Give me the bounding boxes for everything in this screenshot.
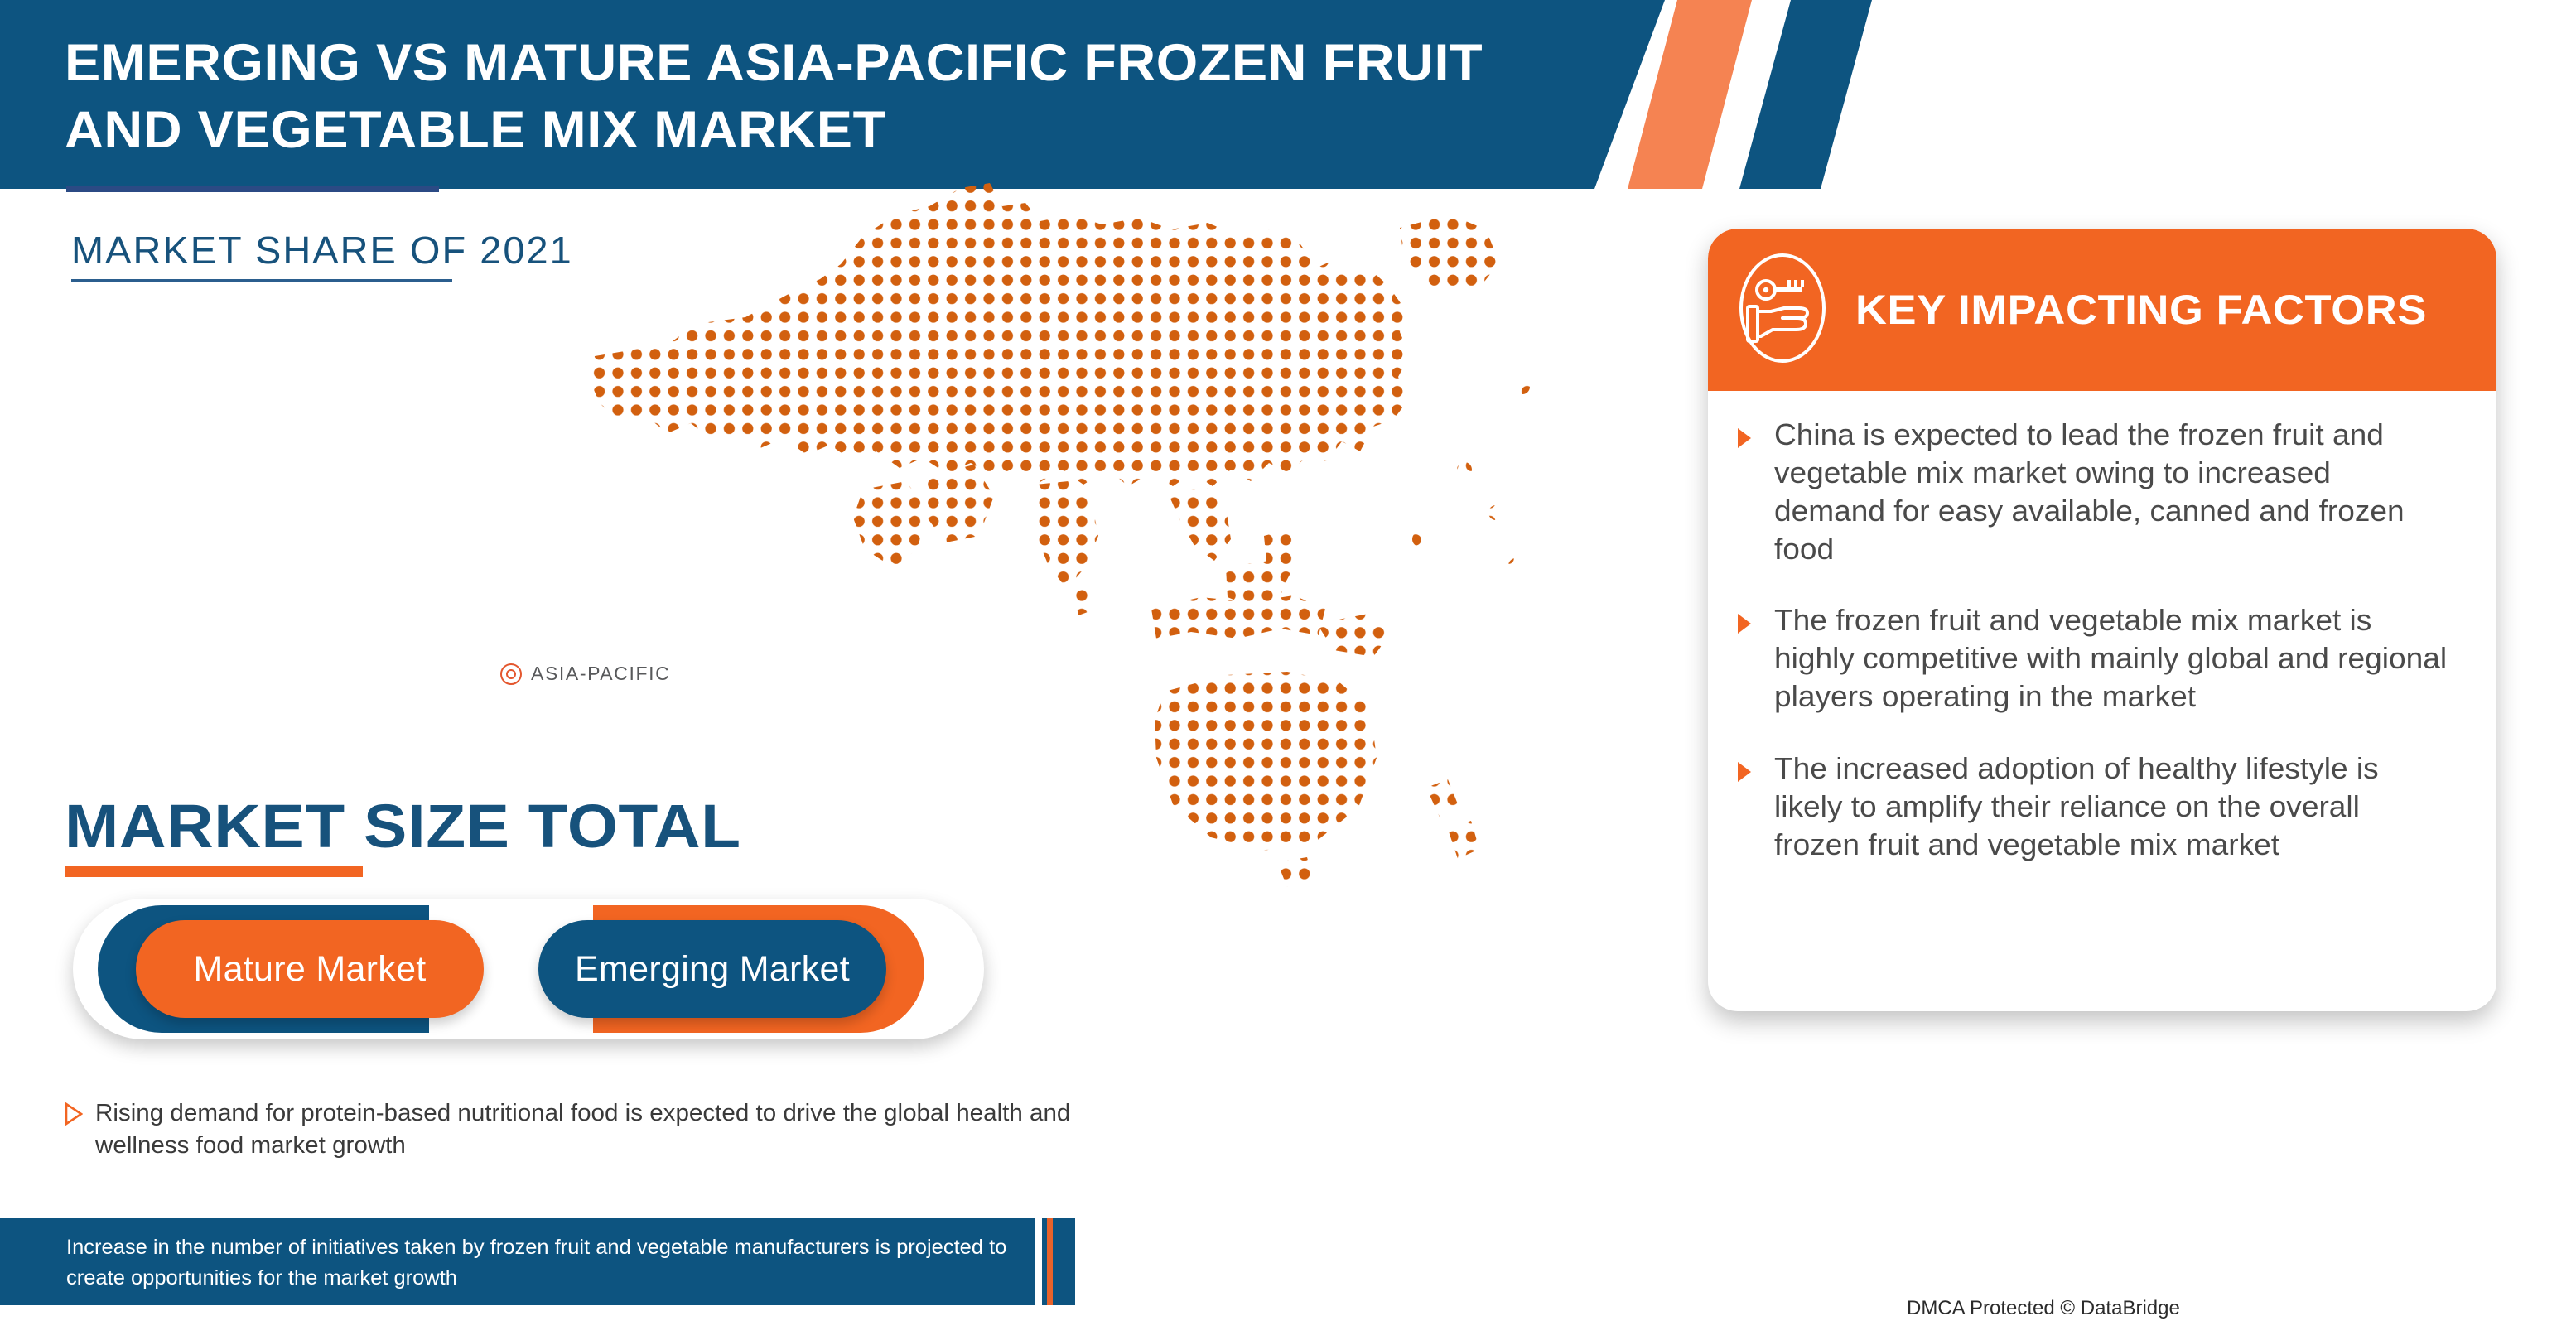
- list-item-text: The increased adoption of healthy lifest…: [1774, 750, 2448, 864]
- page-title-line-1: EMERGING VS MATURE ASIA-PACIFIC FROZEN F…: [65, 30, 1626, 97]
- pill-emerging-label: Emerging Market: [538, 920, 886, 1018]
- list-item: China is expected to lead the frozen fru…: [1736, 416, 2460, 568]
- market-share-label: MARKET SHARE OF 2021: [71, 228, 573, 272]
- map-legend-label: ASIA-PACIFIC: [531, 663, 670, 685]
- market-size-total-underline: [65, 866, 363, 877]
- header-underline-rule: [66, 186, 439, 192]
- market-share-underline: [71, 279, 452, 282]
- header-banner: EMERGING VS MATURE ASIA-PACIFIC FROZEN F…: [0, 0, 1905, 189]
- note-text: Rising demand for protein-based nutritio…: [95, 1097, 1128, 1163]
- list-item-text: China is expected to lead the frozen fru…: [1774, 416, 2448, 568]
- market-size-total-title: MARKET SIZE TOTAL: [65, 791, 741, 861]
- key-impacting-factors-list: China is expected to lead the frozen fru…: [1708, 391, 2496, 897]
- key-impacting-factors-card: KEY IMPACTING FACTORS China is expected …: [1708, 229, 2496, 1011]
- bullet-triangle-icon: [1736, 613, 1753, 716]
- note-bullet-triangle-icon: [65, 1102, 80, 1124]
- market-type-pill-group: Mature Market Emerging Market: [73, 899, 984, 1039]
- page-title: EMERGING VS MATURE ASIA-PACIFIC FROZEN F…: [65, 30, 1626, 163]
- key-impacting-factors-header: KEY IMPACTING FACTORS: [1708, 229, 2496, 391]
- list-item: The frozen fruit and vegetable mix marke…: [1736, 601, 2460, 716]
- bottom-note: Rising demand for protein-based nutritio…: [65, 1097, 1108, 1163]
- bullet-triangle-icon: [1736, 761, 1753, 864]
- key-impacting-factors-title: KEY IMPACTING FACTORS: [1855, 286, 2427, 334]
- bullet-triangle-icon: [1736, 427, 1753, 568]
- pill-mature-market[interactable]: Mature Market: [136, 920, 484, 1018]
- infographic-canvas: EMERGING VS MATURE ASIA-PACIFIC FROZEN F…: [0, 0, 2576, 1326]
- list-item: The increased adoption of healthy lifest…: [1736, 750, 2460, 864]
- footer-accent-line: [1047, 1218, 1053, 1305]
- list-item-text: The frozen fruit and vegetable mix marke…: [1774, 601, 2448, 716]
- hand-holding-key-icon: [1736, 250, 1829, 370]
- pill-mature-label: Mature Market: [136, 920, 484, 1018]
- header-stripe-blue: [1739, 0, 1872, 189]
- page-title-line-2: AND VEGETABLE MIX MARKET: [65, 97, 1626, 164]
- dmca-notice: DMCA Protected © DataBridge: [1907, 1297, 2180, 1320]
- pill-emerging-market[interactable]: Emerging Market: [538, 920, 886, 1018]
- asia-pacific-marker-icon: [500, 663, 522, 685]
- footer-text: Increase in the number of initiatives ta…: [66, 1232, 1030, 1293]
- map-legend: ASIA-PACIFIC: [500, 663, 670, 685]
